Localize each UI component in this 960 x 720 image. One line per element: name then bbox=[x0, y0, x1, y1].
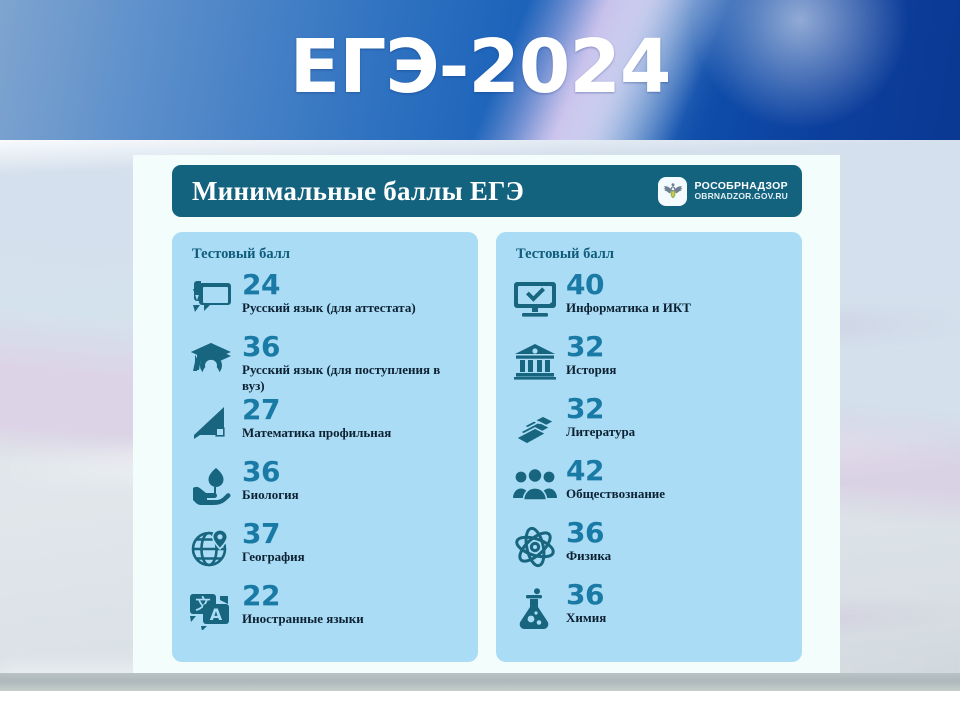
score-body: 40 Информатика и ИКТ bbox=[566, 270, 691, 316]
score-value: 36 bbox=[566, 580, 606, 609]
logo-text: РОСОБРНАДЗОР OBRNADZOR.GOV.RU bbox=[694, 181, 788, 201]
score-value: 22 bbox=[242, 581, 364, 610]
right-rows: 40 Информатика и ИКТ bbox=[496, 269, 802, 641]
monitor-check-icon bbox=[512, 276, 558, 322]
score-value: 32 bbox=[566, 394, 635, 423]
panel-title-left: Тестовый балл bbox=[192, 246, 478, 263]
score-value: 36 bbox=[566, 518, 611, 547]
score-row: 32 Литература bbox=[496, 393, 802, 455]
people-group-icon bbox=[512, 462, 558, 508]
score-value: 24 bbox=[242, 270, 416, 299]
score-value: 40 bbox=[566, 270, 691, 299]
subject-label: География bbox=[242, 549, 305, 564]
page-title: ЕГЭ-2024 bbox=[0, 30, 960, 104]
translate-icon: 文 A bbox=[188, 587, 234, 633]
score-body: 27 Математика профильная bbox=[242, 395, 391, 441]
left-rows: 24 Русский язык (для аттестата) bbox=[172, 269, 478, 642]
subject-label: Литература bbox=[566, 424, 635, 439]
score-row: 36 Физика bbox=[496, 517, 802, 579]
score-body: 36 Химия bbox=[566, 580, 606, 626]
subject-label: История bbox=[566, 362, 616, 377]
logo-url: OBRNADZOR.GOV.RU bbox=[694, 192, 788, 201]
bottom-gray-band bbox=[0, 673, 960, 691]
books-stack-icon bbox=[512, 400, 558, 446]
bottom-white-strip bbox=[0, 691, 960, 720]
rosobrnadzor-logo: РОСОБРНАДЗОР OBRNADZOR.GOV.RU bbox=[658, 177, 788, 206]
score-body: 42 Обществознание bbox=[566, 456, 665, 502]
subject-label: Биология bbox=[242, 487, 299, 502]
score-body: 36 Биология bbox=[242, 457, 299, 503]
bank-building-icon bbox=[512, 338, 558, 384]
score-columns: Тестовый балл bbox=[172, 232, 802, 662]
score-value: 36 bbox=[242, 457, 299, 486]
card-header: Минимальные баллы ЕГЭ РО bbox=[172, 165, 802, 217]
score-value: 42 bbox=[566, 456, 665, 485]
globe-pin-icon bbox=[188, 525, 234, 571]
subject-label: Иностранные языки bbox=[242, 611, 364, 626]
speech-bubble-pen-icon bbox=[188, 276, 234, 322]
infographic-card: Минимальные баллы ЕГЭ РО bbox=[133, 155, 840, 673]
slide: ЕГЭ-2024 Минимальные баллы ЕГЭ bbox=[0, 0, 960, 720]
graduate-cap-icon bbox=[188, 338, 234, 384]
score-row: 40 Информатика и ИКТ bbox=[496, 269, 802, 331]
svg-text:A: A bbox=[210, 605, 223, 624]
score-value: 36 bbox=[242, 332, 457, 361]
hand-leaf-icon bbox=[188, 463, 234, 509]
title-banner: ЕГЭ-2024 bbox=[0, 0, 960, 140]
score-body: 36 Русский язык (для поступления в вуз) bbox=[242, 332, 457, 393]
right-score-panel: Тестовый балл bbox=[496, 232, 802, 662]
subject-label: Русский язык (для поступления в вуз) bbox=[242, 362, 457, 393]
score-body: 32 Литература bbox=[566, 394, 635, 440]
score-row: 文 A 22 Иностранные языки bbox=[172, 580, 478, 642]
score-body: 36 Физика bbox=[566, 518, 611, 564]
double-headed-eagle-icon bbox=[658, 177, 687, 206]
right-triangle-ruler-icon bbox=[188, 401, 234, 447]
score-row: 24 Русский язык (для аттестата) bbox=[172, 269, 478, 331]
score-row: 37 География bbox=[172, 518, 478, 580]
card-title: Минимальные баллы ЕГЭ bbox=[192, 176, 524, 207]
score-row: 32 История bbox=[496, 331, 802, 393]
subject-label: Химия bbox=[566, 610, 606, 625]
score-row: 27 Математика профильная bbox=[172, 394, 478, 456]
subject-label: Обществознание bbox=[566, 486, 665, 501]
left-score-panel: Тестовый балл bbox=[172, 232, 478, 662]
flask-icon bbox=[512, 586, 558, 632]
score-body: 37 География bbox=[242, 519, 305, 565]
score-row: 42 Обществознание bbox=[496, 455, 802, 517]
subject-label: Русский язык (для аттестата) bbox=[242, 300, 416, 315]
score-value: 37 bbox=[242, 519, 305, 548]
subject-label: Математика профильная bbox=[242, 425, 391, 440]
score-value: 32 bbox=[566, 332, 616, 361]
score-row: 36 Химия bbox=[496, 579, 802, 641]
subject-label: Информатика и ИКТ bbox=[566, 300, 691, 315]
score-value: 27 bbox=[242, 395, 391, 424]
score-body: 32 История bbox=[566, 332, 616, 378]
atom-icon bbox=[512, 524, 558, 570]
subject-label: Физика bbox=[566, 548, 611, 563]
score-row: 36 Биология bbox=[172, 456, 478, 518]
score-body: 24 Русский язык (для аттестата) bbox=[242, 270, 416, 316]
panel-title-right: Тестовый балл bbox=[516, 246, 802, 263]
score-body: 22 Иностранные языки bbox=[242, 581, 364, 627]
score-row: 36 Русский язык (для поступления в вуз) bbox=[172, 331, 478, 394]
